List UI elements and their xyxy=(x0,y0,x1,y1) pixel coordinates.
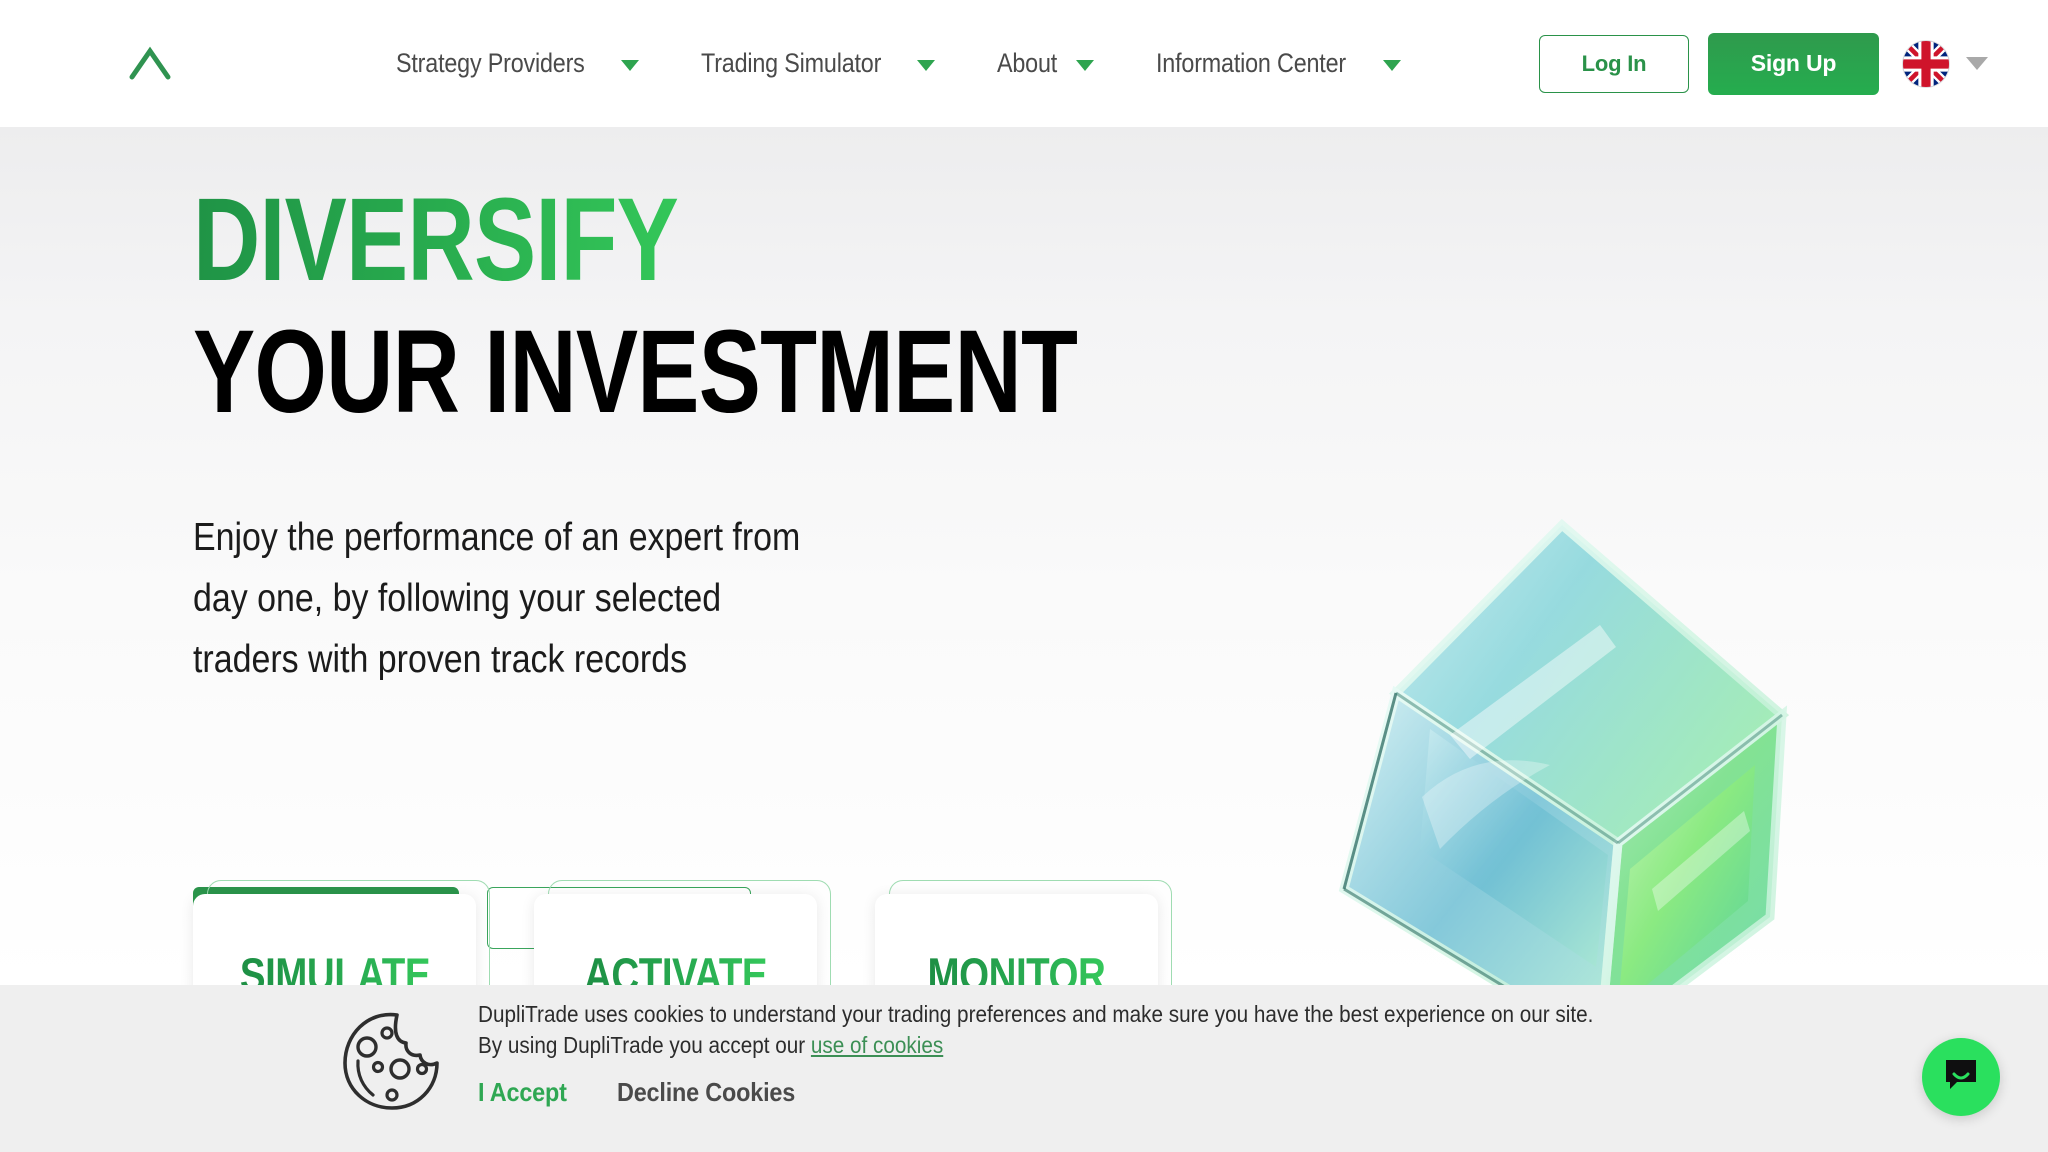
subhead-line-2: day one, by following your selected xyxy=(193,577,721,620)
chat-bubble-icon xyxy=(1941,1055,1981,1100)
nav-item-information-center[interactable]: Information Center xyxy=(1125,0,1432,127)
cookie-consent-banner: DupliTrade uses cookies to understand yo… xyxy=(0,985,2048,1152)
uk-flag-icon xyxy=(1903,41,1949,87)
page-root: Strategy Providers Trading Simulator Abo… xyxy=(0,0,2048,1152)
glass-cube-graphic xyxy=(1290,487,1810,1057)
page-title-line-2: YOUR INVESTMENT xyxy=(193,313,1077,431)
main-navigation: Strategy Providers Trading Simulator Abo… xyxy=(365,0,1432,127)
log-in-button[interactable]: Log In xyxy=(1539,35,1689,93)
cookie-text-line-1: DupliTrade uses cookies to understand yo… xyxy=(478,999,1593,1030)
nav-label: Strategy Providers xyxy=(396,48,585,79)
chevron-down-icon xyxy=(621,60,639,71)
site-header: Strategy Providers Trading Simulator Abo… xyxy=(0,0,2048,127)
nav-item-trading-simulator[interactable]: Trading Simulator xyxy=(670,0,966,127)
sign-up-button[interactable]: Sign Up xyxy=(1708,33,1879,95)
chevron-down-icon xyxy=(1383,60,1401,71)
subhead-line-1: Enjoy the performance of an expert from xyxy=(193,516,800,559)
hero-subheading: Enjoy the performance of an expert from … xyxy=(193,507,976,690)
page-title-line-1: DIVERSIFY xyxy=(193,181,678,299)
accept-cookies-button[interactable]: I Accept xyxy=(478,1077,567,1108)
cookie-action-group: I Accept Decline Cookies xyxy=(478,1077,814,1108)
chevron-down-icon xyxy=(1966,57,1988,70)
cookie-text-block: DupliTrade uses cookies to understand yo… xyxy=(478,999,1717,1061)
nav-item-about[interactable]: About xyxy=(966,0,1125,127)
header-actions: Log In Sign Up xyxy=(1539,0,2048,127)
language-selector[interactable] xyxy=(1903,41,1988,87)
chevron-down-icon xyxy=(1076,60,1094,71)
decline-cookies-button[interactable]: Decline Cookies xyxy=(617,1077,795,1108)
cookie-icon xyxy=(337,1007,445,1115)
subhead-line-3: traders with proven track records xyxy=(193,638,687,681)
nav-label: About xyxy=(997,48,1057,79)
cookie-text-prefix: By using DupliTrade you accept our xyxy=(478,1032,811,1058)
nav-item-strategy-providers[interactable]: Strategy Providers xyxy=(365,0,670,127)
chat-launcher-button[interactable] xyxy=(1922,1038,2000,1116)
cookie-text-line-2: By using DupliTrade you accept our use o… xyxy=(478,1030,1593,1061)
hero-section: DIVERSIFY YOUR INVESTMENT Enjoy the perf… xyxy=(0,127,2048,985)
nav-label: Trading Simulator xyxy=(701,48,881,79)
chevron-up-logo-icon[interactable] xyxy=(122,38,178,88)
use-of-cookies-link[interactable]: use of cookies xyxy=(811,1032,943,1058)
nav-label: Information Center xyxy=(1156,48,1346,79)
chevron-down-icon xyxy=(917,60,935,71)
